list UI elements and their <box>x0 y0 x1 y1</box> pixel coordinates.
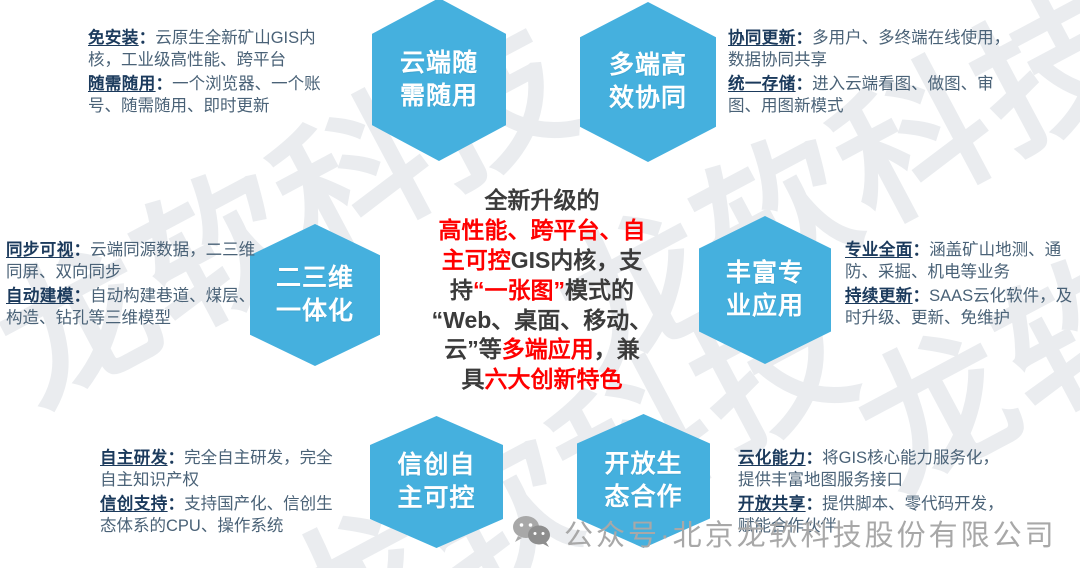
center-headline-line: “Web、桌面、移动、 <box>416 306 668 336</box>
feature-lead: 云化能力 <box>738 449 806 467</box>
feature-lead: 开放共享 <box>738 495 806 513</box>
feature-item: 持续更新：SAAS云化软件，及时升级、更新、免维护 <box>845 286 1077 330</box>
wechat-icon <box>512 515 552 552</box>
feature-lead: 协同更新 <box>728 29 796 47</box>
headline-text: 等 <box>479 336 502 362</box>
feature-lead: 随需随用 <box>88 75 156 93</box>
center-headline-line: 高性能、跨平台、自 <box>416 216 668 246</box>
feature-item: 同步可视：云端同源数据，二三维同屏、双向同步 <box>6 240 256 284</box>
feature-lead: 免安装 <box>88 29 139 47</box>
hexagon-multi-terminal[interactable]: 多端高 效协同 <box>580 2 716 162</box>
headline-text: ，兼 <box>594 336 640 362</box>
feature-lead: 专业全面 <box>845 241 913 259</box>
feature-colon: ： <box>913 287 930 305</box>
headline-emphasis: 高性能、跨平台、自 <box>439 217 646 243</box>
feature-item: 自动建模：自动构建巷道、煤层、构造、钻孔等三维模型 <box>6 286 256 330</box>
feature-lead: 自动建模 <box>6 287 74 305</box>
headline-emphasis: 主可控 <box>442 247 511 273</box>
center-headline-line: 主可控GIS内核，支 <box>416 246 668 276</box>
feature-colon: ： <box>796 75 813 93</box>
feature-item: 自主研发：完全自主研发，完全自主知识产权 <box>100 448 346 492</box>
headline-text: 云” <box>444 336 479 362</box>
feature-colon: ： <box>806 495 823 513</box>
center-headline-line: 具六大创新特色 <box>416 365 668 395</box>
center-headline: 全新升级的高性能、跨平台、自主可控GIS内核，支持“一张图”模式的“Web、桌面… <box>416 186 668 395</box>
headline-emphasis: 六大创新特色 <box>485 366 623 392</box>
headline-text: 具 <box>462 366 485 392</box>
headline-text: 全新升级的 <box>485 187 600 213</box>
text-block-mid-left: 同步可视：云端同源数据，二三维同屏、双向同步 自动建模：自动构建巷道、煤层、构造… <box>6 240 256 332</box>
hexagon-label: 开放生 态合作 <box>604 448 682 514</box>
center-headline-line: 持“一张图”模式的 <box>416 276 668 306</box>
feature-colon: ： <box>806 449 823 467</box>
hexagon-2d3d-integration[interactable]: 二三维 一体化 <box>250 224 380 366</box>
headline-text: 持 <box>450 277 473 303</box>
feature-lead: 统一存储 <box>728 75 796 93</box>
feature-lead: 自主研发 <box>100 449 168 467</box>
text-block-mid-right: 专业全面：涵盖矿山地测、通防、采掘、机电等业务 持续更新：SAAS云化软件，及时… <box>845 240 1077 332</box>
feature-colon: ： <box>796 29 813 47</box>
hexagon-label: 丰富专 业应用 <box>726 257 804 323</box>
feature-item: 云化能力：将GIS核心能力服务化，提供丰富地图服务接口 <box>738 448 1006 492</box>
hexagon-label: 二三维 一体化 <box>276 262 354 328</box>
hexagon-xinchuang-control[interactable]: 信创自 主可控 <box>370 416 503 548</box>
feature-item: 信创支持：支持国产化、信创生态体系的CPU、操作系统 <box>100 494 346 538</box>
text-block-bottom-left: 自主研发：完全自主研发，完全自主知识产权 信创支持：支持国产化、信创生态体系的C… <box>100 448 346 540</box>
center-headline-line: 全新升级的 <box>416 186 668 216</box>
feature-item: 随需随用：一个浏览器、一个账号、随需随用、即时更新 <box>88 74 346 118</box>
footer-text: 公众号·北京龙软科技股份有限公司 <box>564 512 1057 554</box>
headline-text: “Web、桌面、移动、 <box>432 307 653 333</box>
text-block-top-right: 协同更新：多用户、多终端在线使用，数据协同共享 统一存储：进入云端看图、做图、审… <box>728 28 1016 120</box>
headline-text: 模式的 <box>565 277 634 303</box>
feature-colon: ： <box>139 29 156 47</box>
feature-lead: 信创支持 <box>100 495 168 513</box>
footer-bar: 公众号·北京龙软科技股份有限公司 <box>512 512 1057 554</box>
hexagon-label: 信创自 主可控 <box>397 449 475 515</box>
center-headline-line: 云”等多端应用，兼 <box>416 335 668 365</box>
headline-emphasis: “一张图” <box>473 277 565 303</box>
feature-item: 免安装：云原生全新矿山GIS内核，工业级高性能、跨平台 <box>88 28 346 72</box>
hexagon-label: 云端随 需随用 <box>400 47 478 113</box>
feature-colon: ： <box>168 449 185 467</box>
feature-colon: ： <box>74 287 91 305</box>
hexagon-label: 多端高 效协同 <box>609 49 687 115</box>
hexagon-rich-applications[interactable]: 丰富专 业应用 <box>699 216 831 364</box>
feature-colon: ： <box>913 241 930 259</box>
text-block-top-left: 免安装：云原生全新矿山GIS内核，工业级高性能、跨平台 随需随用：一个浏览器、一… <box>88 28 346 120</box>
infographic-canvas: 龙软科技 龙软科技 龙软科技 龙软科技 云端随 需随用 多端高 效协同 二三维 … <box>0 0 1080 568</box>
feature-item: 协同更新：多用户、多终端在线使用，数据协同共享 <box>728 28 1016 72</box>
feature-lead: 同步可视 <box>6 241 74 259</box>
feature-colon: ： <box>156 75 173 93</box>
headline-emphasis: 多端应用 <box>502 336 594 362</box>
feature-item: 统一存储：进入云端看图、做图、审图、用图新模式 <box>728 74 1016 118</box>
feature-lead: 持续更新 <box>845 287 913 305</box>
feature-colon: ： <box>168 495 185 513</box>
feature-colon: ： <box>74 241 91 259</box>
headline-text: GIS内核，支 <box>511 247 643 273</box>
hexagon-cloud-on-demand[interactable]: 云端随 需随用 <box>372 0 506 161</box>
feature-item: 专业全面：涵盖矿山地测、通防、采掘、机电等业务 <box>845 240 1077 284</box>
